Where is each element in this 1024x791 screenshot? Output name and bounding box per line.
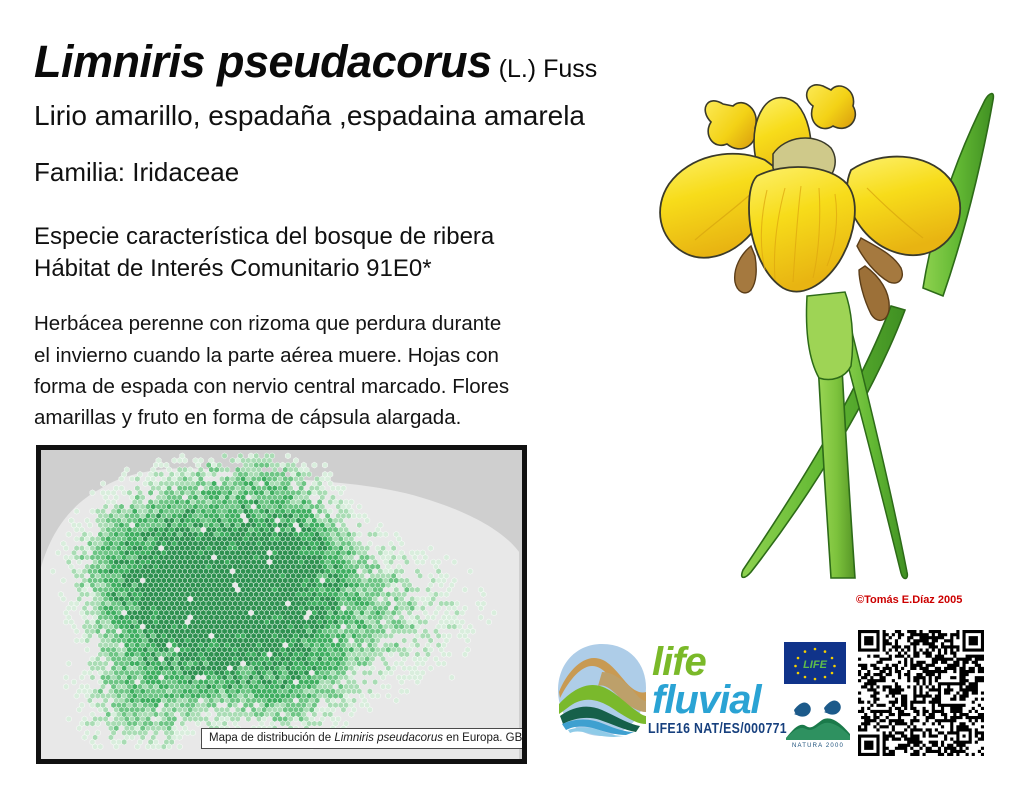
european-union-life-flag-icon: LIFE (784, 642, 846, 684)
species-info-panel: Limniris pseudacorus(L.) Fuss Lirio amar… (34, 36, 674, 434)
life-fluvial-logo-mark (556, 642, 648, 738)
map-occurrence-cell (388, 670, 393, 676)
map-occurrence-cell (161, 744, 166, 750)
map-occurrence-cell (211, 471, 216, 477)
description-block: Herbácea perenne con rizoma que perdura … (34, 308, 539, 433)
map-occurrence-cell (428, 545, 433, 551)
map-occurrence-cell (66, 661, 71, 667)
map-occurrence-cell (90, 674, 95, 680)
map-occurrence-cell (481, 591, 486, 597)
map-occurrence-cell (280, 721, 285, 727)
map-occurrence-cell (77, 559, 82, 565)
map-occurrence-cell (447, 624, 452, 630)
map-occurrence-cell (66, 531, 71, 537)
map-occurrence-cell (380, 674, 385, 680)
map-occurrence-cell (359, 702, 364, 708)
map-occurrence-cell (177, 744, 182, 750)
map-occurrence-cell (441, 624, 446, 630)
map-occurrence-cell (185, 730, 190, 736)
map-occurrence-cell (90, 490, 95, 496)
map-occurrence-cell (423, 619, 428, 625)
map-occurrence-cell (402, 665, 407, 671)
map-occurrence-cell (447, 651, 452, 657)
map-occurrence-cell (396, 554, 401, 560)
map-occurrence-cell (74, 573, 79, 579)
map-occurrence-cell (317, 721, 322, 727)
distribution-map-canvas (41, 450, 522, 763)
map-occurrence-cell (82, 734, 87, 740)
map-occurrence-cell (462, 587, 467, 593)
map-occurrence-cell (79, 674, 84, 680)
map-caption-suffix: en Europa. GBIF.org (443, 732, 527, 744)
map-occurrence-cell (372, 531, 377, 537)
map-occurrence-cell (98, 707, 103, 713)
scientific-name: Limniris pseudacorus (34, 36, 492, 87)
map-occurrence-cell (74, 638, 79, 644)
map-occurrence-cell (114, 744, 119, 750)
map-occurrence-cell (444, 554, 449, 560)
map-occurrence-cell (246, 716, 251, 722)
map-occurrence-cell (399, 679, 404, 685)
map-occurrence-cell (415, 587, 420, 593)
map-occurrence-cell (79, 638, 84, 644)
map-occurrence-cell (338, 490, 343, 496)
map-occurrence-cell (367, 707, 372, 713)
map-occurrence-cell (135, 744, 140, 750)
map-occurrence-cell (190, 730, 195, 736)
map-occurrence-cell (468, 568, 473, 574)
map-occurrence-cell (71, 605, 76, 611)
map-occurrence-cell (95, 693, 100, 699)
map-occurrence-cell (235, 457, 240, 463)
map-occurrence-cell (349, 711, 354, 717)
map-occurrence-cell (351, 688, 356, 694)
map-occurrence-cell (195, 721, 200, 727)
map-occurrence-cell (388, 633, 393, 639)
map-occurrence-cell (415, 679, 420, 685)
habitat-line-2: Hábitat de Interés Comunitario 91E0* (34, 253, 674, 285)
map-occurrence-cell (380, 684, 385, 690)
map-occurrence-cell (95, 721, 100, 727)
map-occurrence-cell (362, 679, 367, 685)
svg-text:NATURA 2000: NATURA 2000 (792, 743, 844, 748)
map-occurrence-cell (415, 605, 420, 611)
species-authority: (L.) Fuss (492, 55, 598, 83)
map-occurrence-cell (188, 716, 193, 722)
natura-2000-logo-icon: NATURA 2000 (784, 696, 852, 748)
habitat-block: Especie característica del bosque de rib… (34, 221, 674, 284)
map-occurrence-cell (177, 734, 182, 740)
map-occurrence-cell (151, 744, 156, 750)
map-occurrence-cell (375, 693, 380, 699)
map-occurrence-cell (166, 744, 171, 750)
map-occurrence-cell (145, 744, 150, 750)
map-occurrence-cell (452, 559, 457, 565)
map-occurrence-cell (85, 721, 90, 727)
map-occurrence-cell (386, 684, 391, 690)
iris-bract-left (735, 246, 757, 293)
map-occurrence-cell (351, 513, 356, 519)
map-occurrence-cell (79, 536, 84, 542)
description-line-4: amarillas y fruto en forma de cápsula al… (34, 402, 539, 433)
map-occurrence-cell (383, 531, 388, 537)
iris-sheath (807, 292, 853, 380)
map-occurrence-cell (362, 670, 367, 676)
map-occurrence-cell (322, 462, 327, 468)
distribution-map: Mapa de distribución de Limniris pseudac… (36, 445, 527, 764)
map-occurrence-cell (85, 638, 90, 644)
map-occurrence-cell (378, 531, 383, 537)
description-line-2: el invierno cuando la parte aérea muere.… (34, 340, 539, 371)
map-occurrence-cell (219, 697, 224, 703)
map-occurrence-cell (71, 679, 76, 685)
map-occurrence-cell (365, 517, 370, 523)
map-occurrence-cell (77, 725, 82, 731)
map-occurrence-cell (328, 499, 333, 505)
iris-drawing (655, 60, 1015, 580)
map-occurrence-cell (206, 471, 211, 477)
map-occurrence-cell (417, 573, 422, 579)
map-occurrence-cell (156, 744, 161, 750)
iris-standard-left (705, 101, 756, 149)
map-occurrence-cell (63, 684, 68, 690)
species-title-line: Limniris pseudacorus(L.) Fuss (34, 36, 674, 88)
map-occurrence-cell (407, 674, 412, 680)
map-occurrence-cell (478, 614, 483, 620)
map-occurrence-cell (74, 536, 79, 542)
map-occurrence-cell (386, 582, 391, 588)
map-occurrence-cell (285, 453, 290, 459)
map-occurrence-cell (148, 490, 153, 496)
map-occurrence-cell (312, 721, 317, 727)
map-occurrence-cell (407, 628, 412, 634)
map-occurrence-cell (306, 471, 311, 477)
map-occurrence-cell (367, 531, 372, 537)
map-occurrence-cell (486, 619, 491, 625)
map-occurrence-cell (357, 504, 362, 510)
map-occurrence-cell (444, 591, 449, 597)
map-occurrence-cell (420, 661, 425, 667)
map-occurrence-cell (77, 707, 82, 713)
map-occurrence-cell (399, 688, 404, 694)
map-occurrence-cell (90, 508, 95, 514)
map-occurrence-cell (312, 462, 317, 468)
map-occurrence-cell (341, 707, 346, 713)
map-occurrence-cell (85, 591, 90, 597)
project-code: LIFE16 NAT/ES/000771 (648, 720, 787, 737)
map-occurrence-cell (404, 688, 409, 694)
map-occurrence-cell (452, 624, 457, 630)
map-occurrence-cell (428, 601, 433, 607)
map-occurrence-cell (93, 744, 98, 750)
map-occurrence-cell (441, 651, 446, 657)
map-occurrence-cell (66, 716, 71, 722)
map-occurrence-cell (293, 716, 298, 722)
map-occurrence-cell (222, 453, 227, 459)
map-occurrence-cell (119, 476, 124, 482)
map-occurrence-cell (63, 674, 68, 680)
iris-fall-petal-center (749, 167, 855, 292)
map-occurrence-cell (61, 577, 66, 583)
common-names: Lirio amarillo, espadaña ,espadaina amar… (34, 100, 674, 132)
habitat-line-1: Especie característica del bosque de rib… (34, 221, 674, 253)
iris-standard-right (807, 85, 856, 129)
map-occurrence-cell (159, 462, 164, 468)
map-occurrence-cell (225, 467, 230, 473)
copyright-notice: ©Tomás E.Díaz 2005 (856, 594, 962, 606)
map-occurrence-cell (478, 605, 483, 611)
map-occurrence-cell (457, 633, 462, 639)
map-occurrence-cell (357, 531, 362, 537)
map-occurrence-cell (362, 661, 367, 667)
map-occurrence-cell (402, 628, 407, 634)
map-occurrence-cell (90, 702, 95, 708)
map-occurrence-cell (449, 674, 454, 680)
map-caption: Mapa de distribución de Limniris pseudac… (201, 728, 527, 749)
map-occurrence-cell (441, 661, 446, 667)
map-occurrence-cell (312, 490, 317, 496)
map-occurrence-cell (415, 642, 420, 648)
map-occurrence-cell (428, 665, 433, 671)
map-occurrence-cell (386, 693, 391, 699)
map-occurrence-cell (465, 638, 470, 644)
map-occurrence-cell (436, 661, 441, 667)
map-occurrence-cell (63, 619, 68, 625)
map-occurrence-cell (55, 550, 60, 556)
map-occurrence-cell (143, 481, 148, 487)
map-occurrence-cell (436, 633, 441, 639)
map-occurrence-cell (100, 481, 105, 487)
map-occurrence-cell (346, 513, 351, 519)
map-occurrence-cell (357, 522, 362, 528)
description-line-3: forma de espada con nervio central marca… (34, 371, 539, 402)
map-occurrence-cell (357, 513, 362, 519)
map-occurrence-cell (85, 647, 90, 653)
map-occurrence-cell (129, 734, 134, 740)
map-occurrence-cell (177, 457, 182, 463)
map-occurrence-cell (399, 541, 404, 547)
map-occurrence-cell (122, 490, 127, 496)
map-occurrence-cell (462, 651, 467, 657)
map-occurrence-cell (404, 559, 409, 565)
map-occurrence-cell (122, 739, 127, 745)
family-label: Familia: Iridaceae (34, 157, 674, 188)
yellow-iris-illustration (655, 60, 1015, 580)
map-occurrence-cell (396, 628, 401, 634)
map-occurrence-cell (367, 670, 372, 676)
map-occurrence-cell (74, 508, 79, 514)
map-occurrence-cell (470, 628, 475, 634)
map-occurrence-cell (439, 591, 444, 597)
map-occurrence-cell (219, 467, 224, 473)
map-caption-prefix: Mapa de distribución de (209, 732, 334, 744)
map-occurrence-cell (63, 545, 68, 551)
map-occurrence-cell (330, 485, 335, 491)
qr-code[interactable] (858, 630, 984, 756)
map-occurrence-cell (230, 457, 235, 463)
map-occurrence-cell (264, 462, 269, 468)
map-occurrence-cell (415, 559, 420, 565)
map-occurrence-cell (50, 568, 55, 574)
map-occurrence-cell (74, 693, 79, 699)
map-occurrence-cell (372, 679, 377, 685)
map-occurrence-cell (439, 582, 444, 588)
description-line-1: Herbácea perenne con rizoma que perdura … (34, 308, 539, 339)
map-occurrence-cell (182, 457, 187, 463)
map-occurrence-cell (388, 651, 393, 657)
map-occurrence-cell (61, 596, 66, 602)
svg-text:LIFE: LIFE (803, 659, 827, 671)
map-occurrence-cell (98, 744, 103, 750)
map-caption-species: Limniris pseudacorus (334, 732, 443, 744)
map-occurrence-cell (420, 559, 425, 565)
map-occurrence-cell (402, 638, 407, 644)
logo-strip: life fluvial LIFE16 NAT/ES/000771 LIFE N… (556, 636, 996, 756)
map-occurrence-cell (420, 633, 425, 639)
map-occurrence-cell (74, 628, 79, 634)
map-occurrence-cell (383, 633, 388, 639)
map-occurrence-cell (74, 527, 79, 533)
map-occurrence-cell (491, 610, 496, 616)
map-occurrence-cell (129, 476, 134, 482)
map-occurrence-cell (370, 693, 375, 699)
map-occurrence-cell (90, 721, 95, 727)
map-occurrence-cell (394, 697, 399, 703)
map-occurrence-cell (410, 587, 415, 593)
map-occurrence-cell (172, 457, 177, 463)
map-occurrence-cell (85, 554, 90, 560)
map-occurrence-cell (135, 476, 140, 482)
map-occurrence-cell (431, 614, 436, 620)
map-occurrence-cell (198, 670, 203, 676)
map-occurrence-cell (87, 522, 92, 528)
map-occurrence-cell (460, 610, 465, 616)
